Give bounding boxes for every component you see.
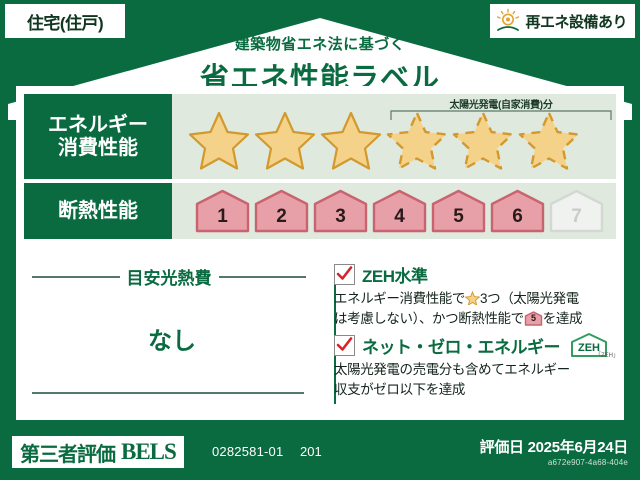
lower-section: 目安光熱費 なし ZEH水準 エネルギー消費性能で3つ（太陽光発 [24, 262, 616, 412]
net-zero-energy-title: ネット・ゼロ・エネルギー [362, 333, 560, 358]
zeh-standard-title: ZEH水準 [362, 262, 428, 287]
energy-performance-stars-area: 太陽光発電(自家消費)分 [172, 94, 616, 179]
insulation-house-4: 4 [371, 189, 428, 233]
zeh-standard-head: ZEH水準 [334, 262, 616, 287]
mini-star-icon [465, 291, 480, 305]
net-zero-energy-body: 太陽光発電の売電分も含めてエネルギー 収支がゼロ以下を達成 [334, 360, 616, 399]
evaluation-date: 評価日 2025年6月24日 [480, 436, 628, 457]
building-type-badge: 住宅(住戸) [4, 3, 126, 39]
zeh-standard-checkbox[interactable] [334, 264, 355, 285]
bels-jp-label: 第三者評価 [20, 438, 115, 467]
sun-solar-icon [495, 8, 521, 34]
label-card: AGATA エネルギー 消費性能 太陽光発電(自家消費)分 [16, 86, 624, 420]
renewable-equipment-label: 再エネ設備あり [525, 11, 627, 32]
star-solar [516, 108, 582, 172]
zeh-section: ZEH水準 エネルギー消費性能で3つ（太陽光発電 は考慮しない）、かつ断熱性能で… [320, 262, 616, 412]
rating-rows: エネルギー 消費性能 太陽光発電(自家消費)分 [24, 94, 616, 239]
insulation-house-5: 5 [430, 189, 487, 233]
insulation-performance-label: 断熱性能 [24, 183, 172, 239]
bels-en-label: BELS [121, 439, 176, 465]
bels-unit-number: 201 [300, 444, 322, 459]
net-zero-energy-checkbox[interactable] [334, 335, 355, 356]
insulation-house-1: 1 [194, 189, 251, 233]
utility-cost-heading: 目安光熱費 [24, 262, 320, 289]
mini-house-icon: 5 [524, 311, 543, 326]
insulation-levels-area: 1 2 3 4 [172, 183, 616, 239]
energy-performance-label: エネルギー 消費性能 [24, 94, 172, 179]
net-zero-energy-block: ネット・ゼロ・エネルギー ZEH 「ZEH」 太陽光発電の売電分も含めてエネルギ… [334, 332, 616, 399]
utility-cost-value: なし [24, 321, 320, 356]
zeh-standard-block: ZEH水準 エネルギー消費性能で3つ（太陽光発電 は考慮しない）、かつ断熱性能で… [334, 262, 616, 328]
zeh-logo-caption: 「ZEH」 [595, 350, 619, 359]
insulation-performance-row: 断熱性能 1 2 3 [24, 183, 616, 239]
label-canvas: 建築物省エネ法に基づく 省エネ性能ラベル 住宅(住戸) 再エネ設備あり AGAT… [0, 0, 640, 480]
renewable-equipment-badge: 再エネ設備あり [489, 3, 636, 39]
insulation-house-6: 6 [489, 189, 546, 233]
insulation-house-scale: 1 2 3 4 [172, 189, 605, 233]
rule-left [32, 276, 120, 278]
footer-bar: 第三者評価 BELS 0282581-01 201 評価日 2025年6月24日… [0, 424, 640, 480]
evaluation-hash: a672e907-4a68-404e [480, 458, 628, 467]
insulation-house-3: 3 [312, 189, 369, 233]
evaluation-date-group: 評価日 2025年6月24日 a672e907-4a68-404e [480, 436, 628, 467]
star-filled [186, 108, 252, 172]
utility-cost-bottom-rule [32, 392, 304, 394]
star-filled [252, 108, 318, 172]
star-solar [384, 108, 450, 172]
net-zero-energy-head: ネット・ゼロ・エネルギー ZEH 「ZEH」 [334, 332, 616, 358]
star-rating [172, 108, 582, 172]
bels-number: 0282581-01 [212, 444, 283, 459]
star-filled [318, 108, 384, 172]
rule-right [219, 276, 307, 278]
star-solar [450, 108, 516, 172]
bels-logo: 第三者評価 BELS [12, 436, 184, 468]
zeh-logo-icon: ZEH 「ZEH」 [569, 332, 609, 358]
insulation-house-2: 2 [253, 189, 310, 233]
utility-cost-section: 目安光熱費 なし [24, 262, 320, 412]
utility-cost-heading-text: 目安光熱費 [127, 264, 212, 289]
zeh-standard-body: エネルギー消費性能で3つ（太陽光発電 は考慮しない）、かつ断熱性能で5を達成 [334, 289, 616, 328]
insulation-house-7: 7 [548, 189, 605, 233]
energy-performance-row: エネルギー 消費性能 太陽光発電(自家消費)分 [24, 94, 616, 179]
